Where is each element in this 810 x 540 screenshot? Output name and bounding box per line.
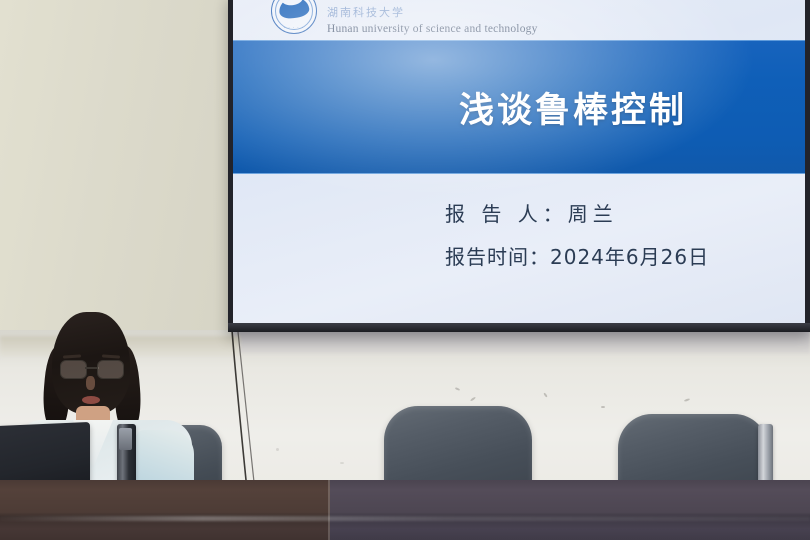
slide-meta-block: 报 告 人：周兰 报告时间：2024年6月26日 — [233, 174, 805, 323]
presentation-display[interactable]: · · · · · 湖南科技大学 Hunan university of sci… — [228, 0, 810, 332]
slide-title-band: 浅谈鲁棒控制 — [233, 40, 805, 174]
desk-microphone-right[interactable] — [758, 424, 773, 488]
university-logo-icon: · · · · · — [271, 0, 317, 34]
mouth — [82, 396, 100, 404]
wall-mark — [276, 448, 279, 451]
wall-mark — [601, 406, 605, 408]
wall-left — [0, 0, 232, 352]
institution-name-cn: 湖南科技大学 — [327, 7, 538, 21]
table-highlight — [0, 516, 810, 521]
conference-room-scene: · · · · · 湖南科技大学 Hunan university of sci… — [0, 0, 810, 540]
slide-title: 浅谈鲁棒控制 — [459, 82, 687, 133]
wall-mark — [340, 462, 344, 464]
slide-presenter-line: 报 告 人：周兰 — [445, 198, 805, 227]
slide-header-text: 湖南科技大学 Hunan university of science and t… — [327, 7, 538, 36]
slide-date-line: 报告时间：2024年6月26日 — [445, 241, 805, 270]
slide-surface: · · · · · 湖南科技大学 Hunan university of sci… — [233, 0, 805, 323]
slide-header: · · · · · 湖南科技大学 Hunan university of sci… — [233, 0, 805, 40]
conference-table-right — [330, 480, 810, 540]
institution-name-en: Hunan university of science and technolo… — [327, 22, 538, 36]
nose — [86, 376, 95, 390]
eyeglasses-icon — [60, 360, 124, 377]
table-seam — [328, 480, 330, 540]
